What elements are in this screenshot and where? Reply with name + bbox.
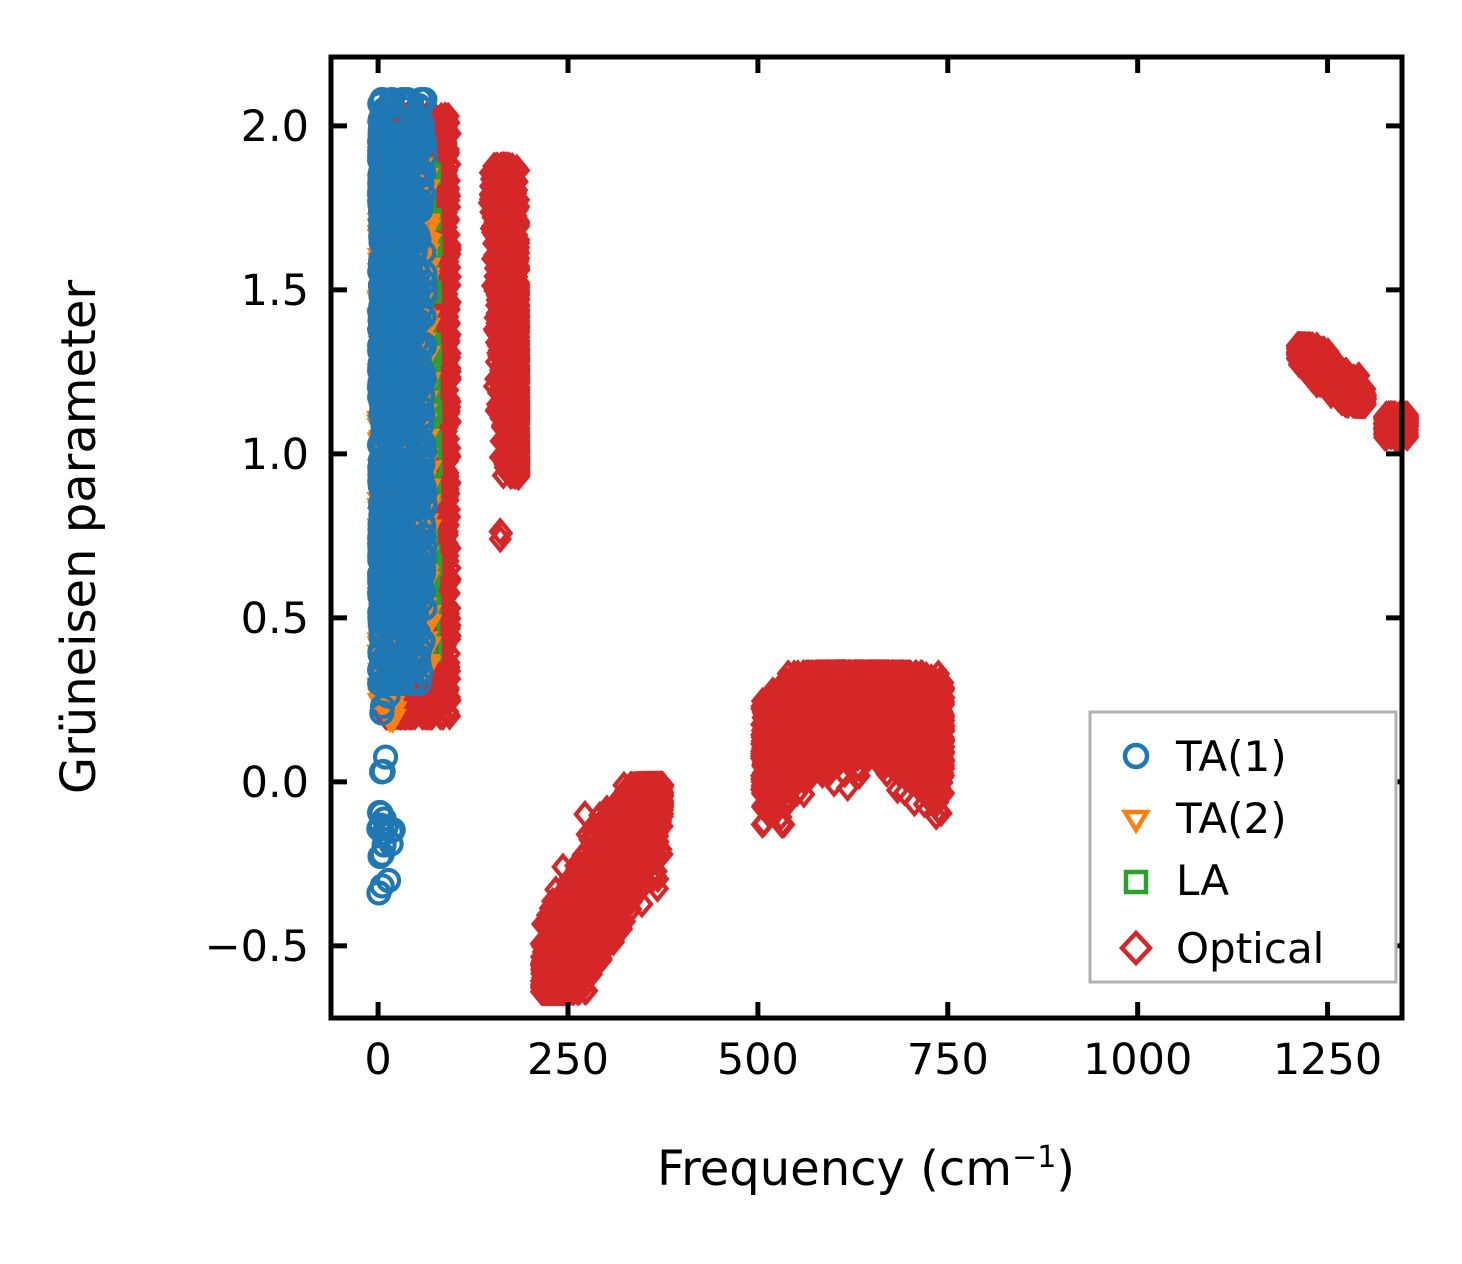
y-axis-title: Grüneisen parameter — [51, 280, 107, 795]
y-tick-label: 1.0 — [241, 430, 309, 480]
y-tick-label: 2.0 — [241, 102, 309, 152]
legend[interactable]: TA(1) TA(2) LA Optical — [1090, 712, 1396, 982]
y-tick-label: −0.5 — [205, 922, 309, 972]
y-tick-label: 0.0 — [241, 758, 309, 808]
figure-canvas: 025050075010001250 −0.50.00.51.01.52.0 F… — [0, 0, 1462, 1264]
x-axis-title-exponent: −1 — [1012, 1140, 1056, 1175]
x-tick-label: 1250 — [1273, 1035, 1382, 1085]
y-axis-tick-labels: −0.50.00.51.01.52.0 — [205, 102, 309, 972]
x-axis-tick-labels: 025050075010001250 — [364, 1035, 1382, 1085]
x-tick-label: 250 — [527, 1035, 609, 1085]
legend-label-ta2: TA(2) — [1175, 794, 1287, 843]
x-tick-label: 1000 — [1083, 1035, 1192, 1085]
x-axis-title-base: Frequency (cm — [657, 1141, 1012, 1197]
legend-label-optical: Optical — [1176, 924, 1324, 973]
y-tick-label: 0.5 — [241, 594, 309, 644]
x-tick-label: 0 — [364, 1035, 391, 1085]
x-axis-title-close: ) — [1056, 1141, 1075, 1197]
y-tick-label: 1.5 — [241, 266, 309, 316]
x-axis-title: Frequency (cm−1) — [657, 1140, 1075, 1197]
legend-label-la: LA — [1176, 856, 1229, 905]
x-tick-label: 750 — [907, 1035, 989, 1085]
scatter-plot[interactable]: 025050075010001250 −0.50.00.51.01.52.0 F… — [0, 0, 1462, 1264]
legend-label-ta1: TA(1) — [1175, 732, 1287, 781]
x-tick-label: 500 — [717, 1035, 799, 1085]
